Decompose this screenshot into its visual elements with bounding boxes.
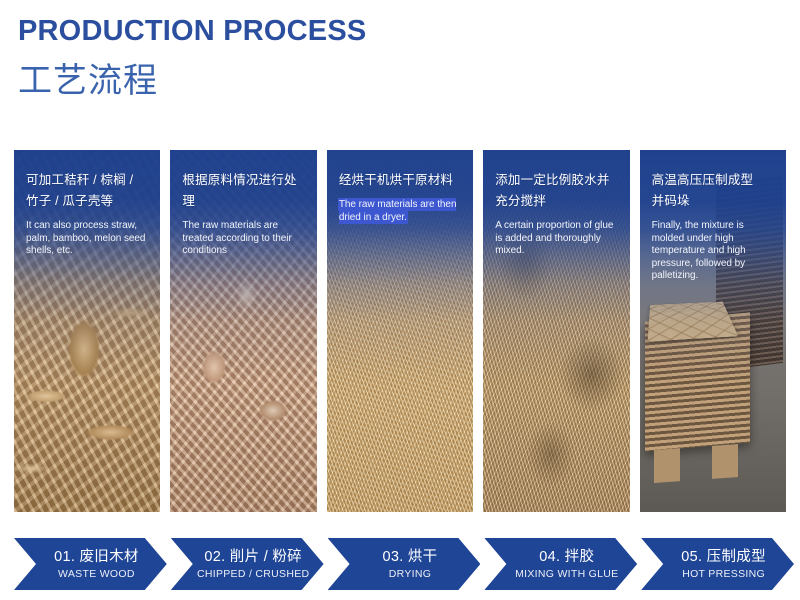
process-card-5[interactable]: 高温高压压制成型 并码垛 Finally, the mixture is mol… <box>640 150 786 512</box>
step-arrow-1-label-cn: 01. 废旧木材 <box>54 548 139 566</box>
process-card-1-text: 可加工秸秆 / 棕榈 / 竹子 / 瓜子壳等 It can also proce… <box>26 170 150 258</box>
slide-header: PRODUCTION PROCESS 工艺流程 <box>18 12 366 106</box>
process-step-arrow-bar: 01. 废旧木材 WASTE WOOD 02. 削片 / 粉碎 CHIPPED … <box>14 538 794 590</box>
process-card-5-description-text: Finally, the mixture is molded under hig… <box>652 220 746 281</box>
process-card-4-description-en: A certain proportion of glue is added an… <box>495 220 619 258</box>
process-card-1-description-text: It can also process straw, palm, bamboo,… <box>26 220 145 256</box>
process-card-4-text: 添加一定比例胶水并 充分搅拌 A certain proportion of g… <box>495 170 619 258</box>
process-card-2-description-text: The raw materials are treated according … <box>182 220 291 256</box>
process-card-1-title-cn: 可加工秸秆 / 棕榈 / 竹子 / 瓜子壳等 <box>26 170 150 212</box>
process-card-2-title-cn: 根据原料情况进行处理 <box>182 170 306 212</box>
step-arrow-4-label-en: MIXING WITH GLUE <box>515 567 618 581</box>
production-process-slide: PRODUCTION PROCESS 工艺流程 可加工秸秆 / 棕榈 / 竹子 … <box>0 0 800 600</box>
process-card-1-title-line2: 竹子 / 瓜子壳等 <box>26 191 150 212</box>
step-arrow-3[interactable]: 03. 烘干 DRYING <box>328 538 481 590</box>
step-arrow-4[interactable]: 04. 拌胶 MIXING WITH GLUE <box>484 538 637 590</box>
step-arrow-2-label-en: CHIPPED / CRUSHED <box>197 567 309 581</box>
step-arrow-4-label-cn: 04. 拌胶 <box>539 548 594 566</box>
process-card-3-title-line1: 经烘干机烘干原材料 <box>339 170 463 191</box>
step-arrow-2[interactable]: 02. 削片 / 粉碎 CHIPPED / CRUSHED <box>171 538 324 590</box>
step-arrow-5[interactable]: 05. 压制成型 HOT PRESSING <box>641 538 794 590</box>
process-card-3-description-en[interactable]: The raw materials are then dried in a dr… <box>339 199 463 224</box>
process-card-5-title-line2: 并码垛 <box>652 191 776 212</box>
process-card-5-title-cn: 高温高压压制成型 并码垛 <box>652 170 776 212</box>
process-card-2-description-en: The raw materials are treated according … <box>182 220 306 258</box>
process-card-3[interactable]: 经烘干机烘干原材料 The raw materials are then dri… <box>327 150 473 512</box>
step-arrow-2-label-cn: 02. 削片 / 粉碎 <box>204 548 302 566</box>
step-arrow-1-label-en: WASTE WOOD <box>58 567 135 581</box>
process-card-1-description-en: It can also process straw, palm, bamboo,… <box>26 220 150 258</box>
process-card-5-description-en: Finally, the mixture is molded under hig… <box>652 220 776 283</box>
pallet-feet <box>654 444 739 483</box>
process-card-2-title-line1: 根据原料情况进行处理 <box>182 170 306 212</box>
process-card-3-text: 经烘干机烘干原材料 The raw materials are then dri… <box>339 170 463 224</box>
process-card-2-text: 根据原料情况进行处理 The raw materials are treated… <box>182 170 306 258</box>
step-arrow-5-label-cn: 05. 压制成型 <box>681 548 766 566</box>
process-card-2[interactable]: 根据原料情况进行处理 The raw materials are treated… <box>170 150 316 512</box>
process-card-1[interactable]: 可加工秸秆 / 棕榈 / 竹子 / 瓜子壳等 It can also proce… <box>14 150 160 512</box>
process-card-4-title-line2: 充分搅拌 <box>495 191 619 212</box>
process-card-5-text: 高温高压压制成型 并码垛 Finally, the mixture is mol… <box>652 170 776 283</box>
step-arrow-3-label-cn: 03. 烘干 <box>382 548 437 566</box>
process-card-strip: 可加工秸秆 / 棕榈 / 竹子 / 瓜子壳等 It can also proce… <box>14 150 786 512</box>
page-title-english: PRODUCTION PROCESS <box>18 12 366 50</box>
process-card-3-title-cn: 经烘干机烘干原材料 <box>339 170 463 191</box>
step-arrow-5-label-en: HOT PRESSING <box>682 567 765 581</box>
page-title-chinese: 工艺流程 <box>18 56 366 106</box>
process-card-1-title-line1: 可加工秸秆 / 棕榈 / <box>26 170 150 191</box>
process-card-3-description-text-selected[interactable]: The raw materials are then dried in a dr… <box>339 199 457 223</box>
process-card-4-description-text: A certain proportion of glue is added an… <box>495 220 613 256</box>
step-arrow-3-label-en: DRYING <box>389 567 431 581</box>
process-card-4-title-cn: 添加一定比例胶水并 充分搅拌 <box>495 170 619 212</box>
process-card-4-title-line1: 添加一定比例胶水并 <box>495 170 619 191</box>
step-arrow-1[interactable]: 01. 废旧木材 WASTE WOOD <box>14 538 167 590</box>
process-card-5-title-line1: 高温高压压制成型 <box>652 170 776 191</box>
process-card-4[interactable]: 添加一定比例胶水并 充分搅拌 A certain proportion of g… <box>483 150 629 512</box>
